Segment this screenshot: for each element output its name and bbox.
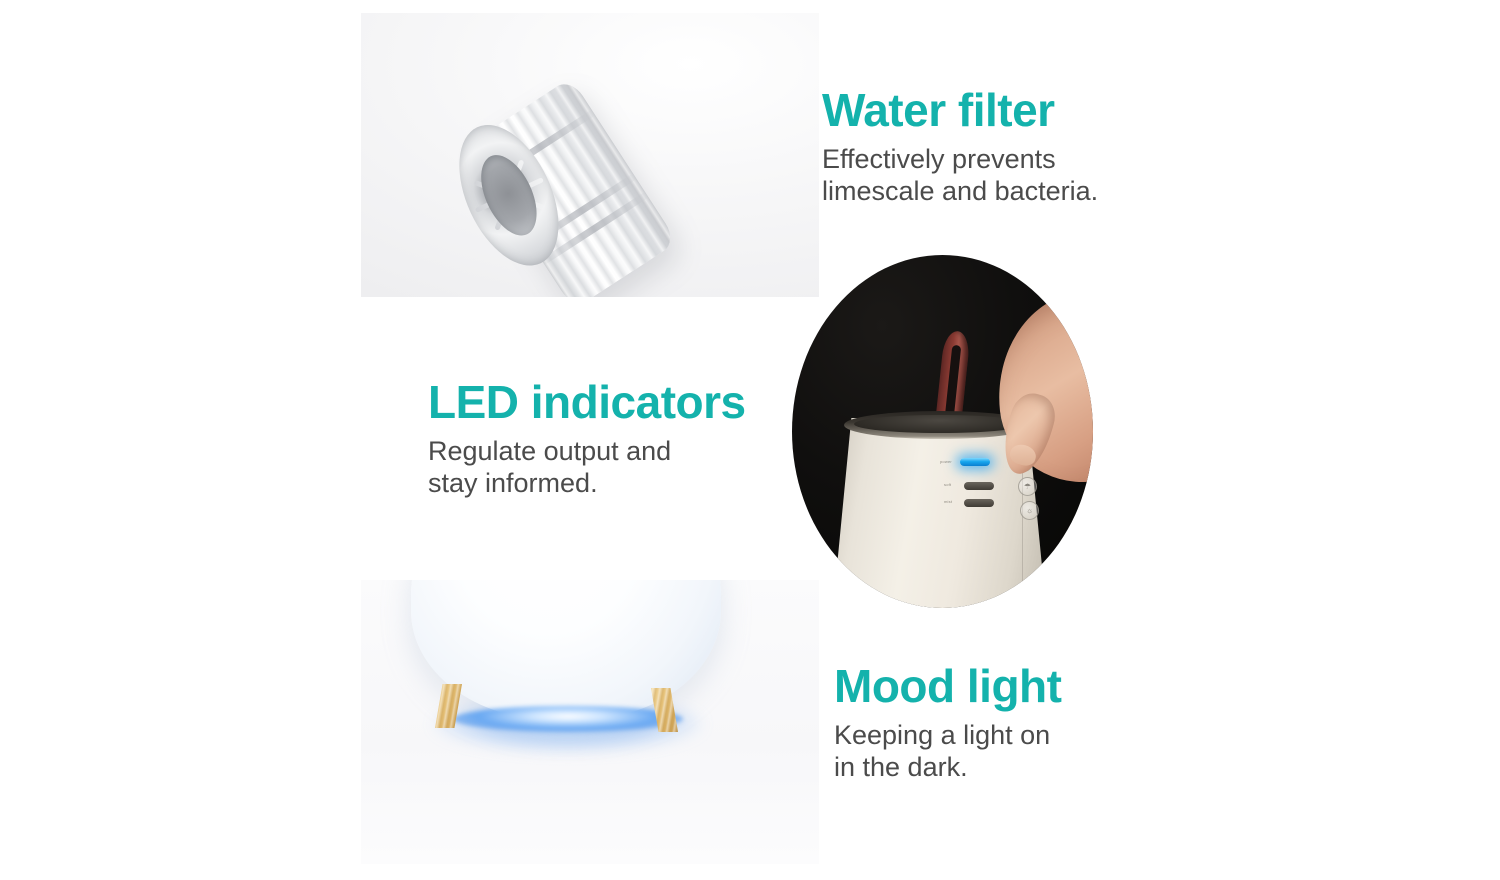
led-control-panel-image: power soft mist ⏻ ☂ ☼: [792, 255, 1093, 608]
mood-light-core-glow: [453, 706, 683, 732]
water-filter-image: duux: [361, 13, 819, 297]
water-filter-description: Effectively prevents limescale and bacte…: [822, 144, 1098, 208]
led-label-power: power: [940, 459, 952, 464]
leather-pull-strap: [935, 330, 970, 424]
led-indicators-text-block: LED indicators Regulate output and stay …: [428, 378, 746, 500]
description-line: stay informed.: [428, 468, 746, 500]
water-filter-text-block: Water filter Effectively prevents limesc…: [822, 86, 1098, 208]
description-line: Effectively prevents: [822, 144, 1098, 176]
description-line: Keeping a light on: [834, 720, 1061, 752]
led-indicator-inactive: [964, 482, 994, 490]
water-filter-cartridge-illustration: duux: [404, 13, 781, 297]
water-filter-heading: Water filter: [822, 86, 1098, 134]
description-line: in the dark.: [834, 752, 1061, 784]
led-label-soft: soft: [944, 482, 951, 487]
mood-light-description: Keeping a light on in the dark.: [834, 720, 1061, 784]
led-label-mist: mist: [944, 499, 952, 504]
description-line: limescale and bacteria.: [822, 176, 1098, 208]
led-indicator-active: [960, 458, 990, 466]
infographic-canvas: duux Water filter Effectively prevents l…: [0, 0, 1500, 880]
filter-cap-aperture: [470, 147, 548, 244]
light-button-icon: ☼: [1020, 501, 1039, 520]
mist-glyph: ☂: [1019, 478, 1036, 495]
light-glyph: ☼: [1021, 502, 1038, 519]
description-line: Regulate output and: [428, 436, 746, 468]
led-indicators-heading: LED indicators: [428, 378, 746, 426]
led-indicators-description: Regulate output and stay informed.: [428, 436, 746, 500]
mood-light-image: [361, 580, 819, 864]
mood-light-text-block: Mood light Keeping a light on in the dar…: [834, 662, 1061, 784]
mood-light-heading: Mood light: [834, 662, 1061, 710]
mist-button-icon: ☂: [1018, 477, 1037, 496]
led-indicator-inactive: [964, 499, 994, 507]
